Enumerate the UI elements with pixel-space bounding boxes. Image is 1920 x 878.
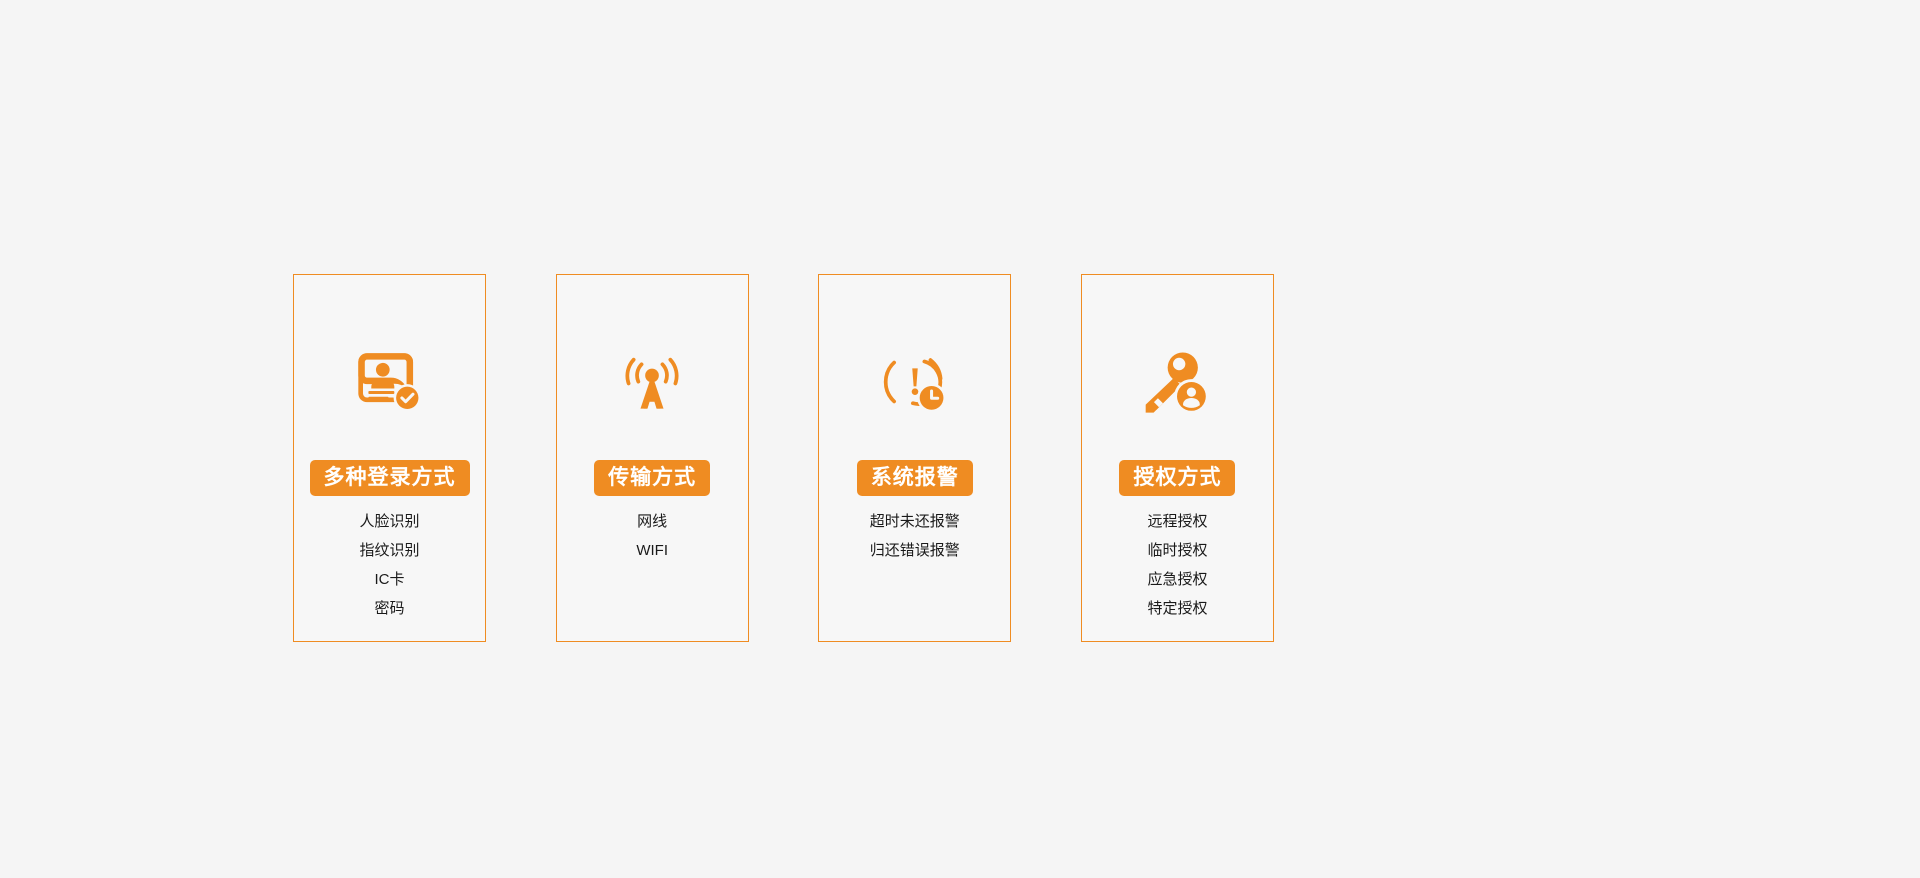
- list-item: 超时未还报警: [870, 507, 960, 536]
- feature-list: 远程授权 临时授权 应急授权 特定授权: [1082, 507, 1273, 623]
- key-user-icon: [1082, 339, 1273, 425]
- list-item: 网线: [637, 507, 667, 536]
- feature-card-system-alarm[interactable]: 系统报警 超时未还报警 归还错误报警: [818, 274, 1011, 642]
- list-item: WIFI: [636, 536, 668, 565]
- list-item: 远程授权: [1147, 507, 1207, 536]
- list-item: IC卡: [374, 565, 404, 594]
- list-item: 归还错误报警: [870, 536, 960, 565]
- badge-wrap: 系统报警: [819, 460, 1010, 496]
- card-badge: 授权方式: [1119, 460, 1235, 496]
- alert-clock-icon: [819, 339, 1010, 425]
- feature-cards-board: 多种登录方式 人脸识别 指纹识别 IC卡 密码: [0, 0, 1920, 878]
- card-badge: 多种登录方式: [310, 460, 470, 496]
- feature-list: 人脸识别 指纹识别 IC卡 密码: [294, 507, 485, 623]
- badge-wrap: 传输方式: [557, 460, 748, 496]
- id-card-verified-icon: [294, 339, 485, 425]
- badge-wrap: 授权方式: [1082, 460, 1273, 496]
- feature-card-strip: 多种登录方式 人脸识别 指纹识别 IC卡 密码: [293, 274, 1274, 644]
- feature-list: 网线 WIFI: [557, 507, 748, 565]
- badge-wrap: 多种登录方式: [294, 460, 485, 496]
- list-item: 临时授权: [1147, 536, 1207, 565]
- card-badge: 传输方式: [594, 460, 710, 496]
- list-item: 指纹识别: [359, 536, 419, 565]
- feature-card-authorization[interactable]: 授权方式 远程授权 临时授权 应急授权 特定授权: [1081, 274, 1274, 642]
- list-item: 密码: [374, 594, 404, 623]
- card-badge: 系统报警: [857, 460, 973, 496]
- signal-tower-icon: [557, 339, 748, 425]
- feature-card-login-methods[interactable]: 多种登录方式 人脸识别 指纹识别 IC卡 密码: [293, 274, 486, 642]
- list-item: 特定授权: [1147, 594, 1207, 623]
- feature-card-transmission[interactable]: 传输方式 网线 WIFI: [556, 274, 749, 642]
- list-item: 人脸识别: [359, 507, 419, 536]
- feature-list: 超时未还报警 归还错误报警: [819, 507, 1010, 565]
- list-item: 应急授权: [1147, 565, 1207, 594]
